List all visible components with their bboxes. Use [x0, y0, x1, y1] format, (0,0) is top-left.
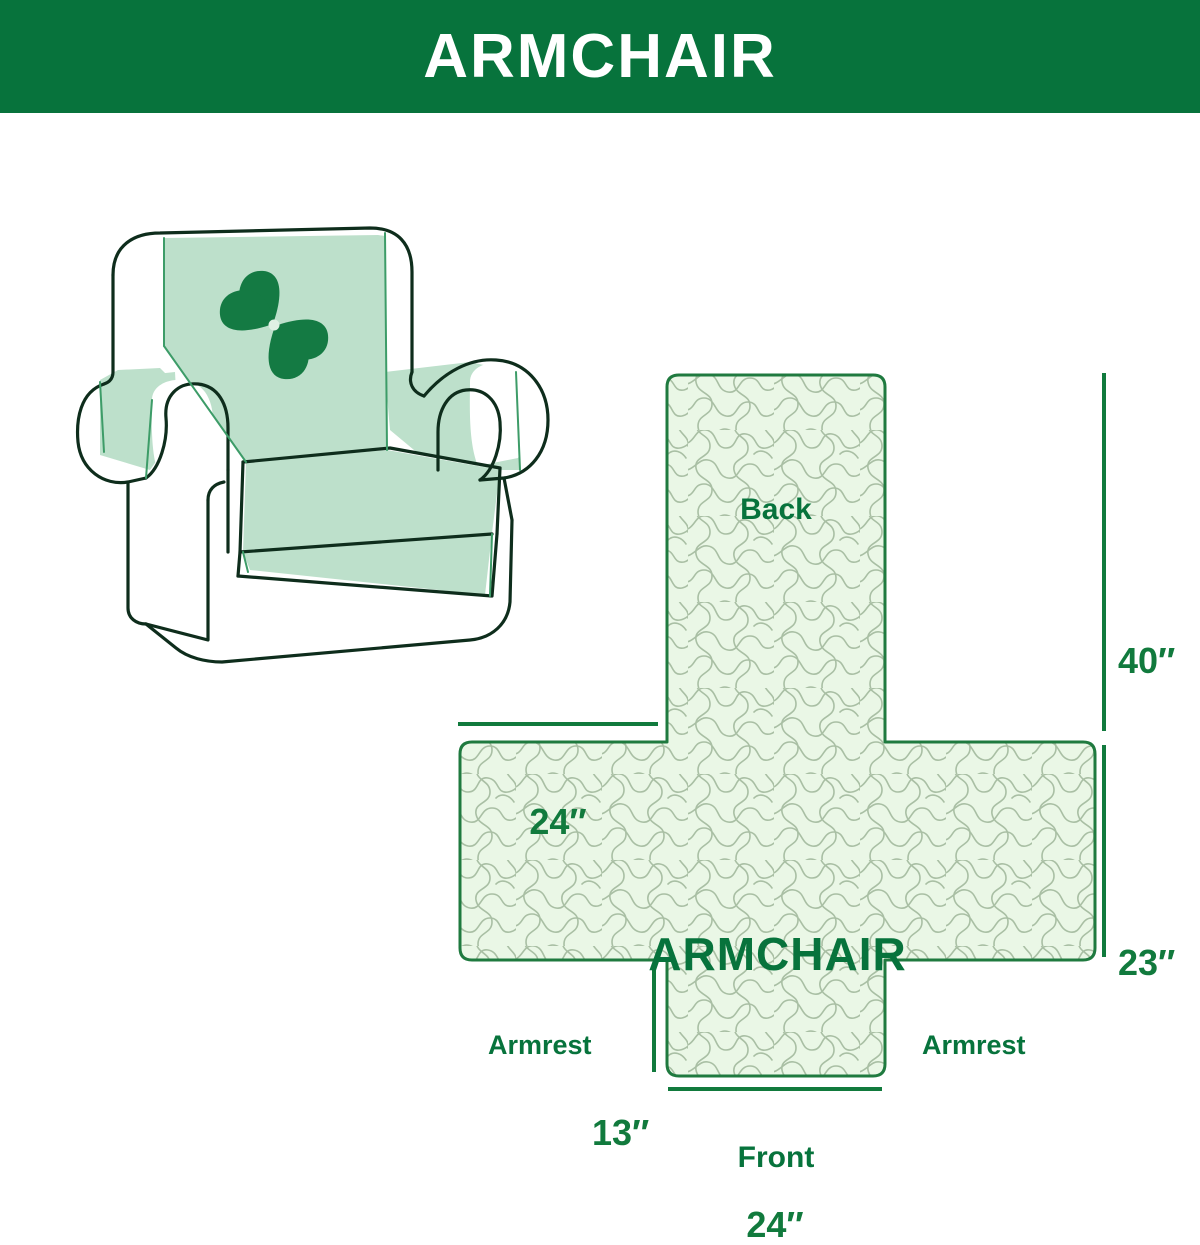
page-title: ARMCHAIR — [423, 26, 777, 88]
pattern-label-back: Back — [667, 495, 885, 525]
pattern-label-front: Front — [667, 1143, 885, 1173]
dimension-label-front-width: 24″ — [668, 1207, 882, 1243]
dimension-label-front-height: 13″ — [592, 1115, 649, 1151]
pattern-label-center: ARMCHAIR — [460, 931, 1095, 977]
armchair-illustration — [78, 228, 548, 662]
pattern-label-armrest-left: Armrest — [488, 1032, 592, 1059]
pattern-label-armrest-right: Armrest — [922, 1032, 1026, 1059]
dimension-label-back-width: 24″ — [458, 804, 658, 840]
dimension-label-back-height: 40″ — [1118, 643, 1175, 679]
header-banner: ARMCHAIR — [0, 0, 1200, 113]
diagram-canvas: Back ARMCHAIR Armrest Armrest Front 40″ … — [0, 113, 1200, 1200]
dimension-label-center-height: 23″ — [1118, 945, 1175, 981]
